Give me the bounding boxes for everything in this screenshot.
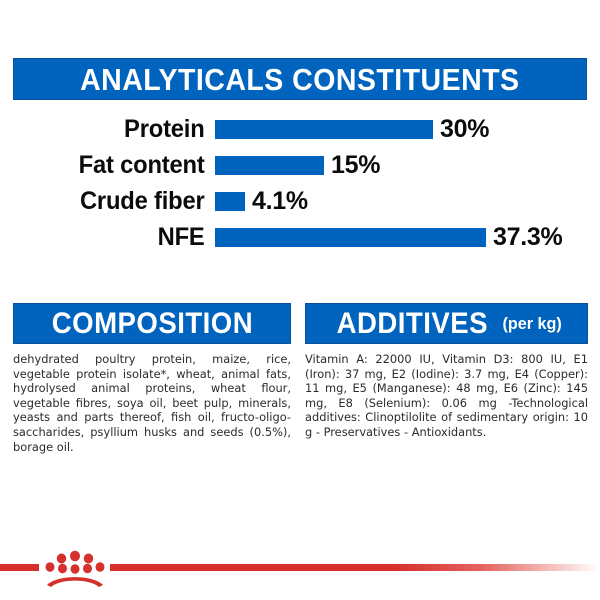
analyticals-title: ANALYTICALS CONSTITUENTS — [80, 64, 519, 95]
bar-track-fat-content: 15% — [215, 148, 587, 182]
additives-panel: ADDITIVES (per kg) Vitamin A: 22000 IU, … — [305, 303, 588, 451]
bar-value-fat-content: 15% — [331, 151, 380, 180]
composition-text: dehydrated poultry protein, maize, rice,… — [13, 352, 291, 454]
bar-fill-fat-content — [215, 156, 324, 175]
footer-rule-right — [110, 564, 600, 571]
bar-track-protein: 30% — [215, 112, 587, 146]
royal-canin-crown-logo — [43, 546, 107, 588]
bar-row-crude-fiber: Crude fiber 4.1% — [13, 184, 587, 218]
bar-label-nfe: NFE — [23, 223, 215, 252]
additives-header-bar: ADDITIVES (per kg) — [305, 303, 588, 344]
bar-label-crude-fiber: Crude fiber — [23, 187, 215, 216]
bar-fill-nfe — [215, 228, 486, 247]
brand-footer-strip — [0, 560, 600, 574]
analyticals-header-bar: ANALYTICALS CONSTITUENTS — [13, 58, 587, 100]
bar-label-protein: Protein — [23, 115, 215, 144]
additives-text: Vitamin A: 22000 IU, Vitamin D3: 800 IU,… — [305, 352, 588, 440]
composition-header-bar: COMPOSITION — [13, 303, 291, 344]
bar-track-crude-fiber: 4.1% — [215, 184, 587, 218]
bar-value-crude-fiber: 4.1% — [252, 187, 308, 216]
bar-fill-crude-fiber — [215, 192, 245, 211]
bar-row-fat-content: Fat content 15% — [13, 148, 587, 182]
bar-value-nfe: 37.3% — [493, 223, 562, 252]
additives-title: ADDITIVES — [337, 309, 488, 339]
composition-panel: COMPOSITION dehydrated poultry protein, … — [13, 303, 291, 466]
bar-row-nfe: NFE 37.3% — [13, 220, 587, 254]
nutrition-bar-chart: Protein 30% Fat content 15% Crude fiber … — [13, 112, 587, 254]
bar-row-protein: Protein 30% — [13, 112, 587, 146]
footer-rule-left — [0, 564, 39, 571]
bar-label-fat-content: Fat content — [23, 151, 215, 180]
composition-title: COMPOSITION — [51, 309, 252, 339]
additives-subtitle: (per kg) — [502, 314, 561, 334]
bar-value-protein: 30% — [440, 115, 489, 144]
bar-fill-protein — [215, 120, 433, 139]
bar-track-nfe: 37.3% — [215, 220, 587, 254]
analyticals-constituents-panel: ANALYTICALS CONSTITUENTS Protein 30% Fat… — [13, 58, 587, 256]
